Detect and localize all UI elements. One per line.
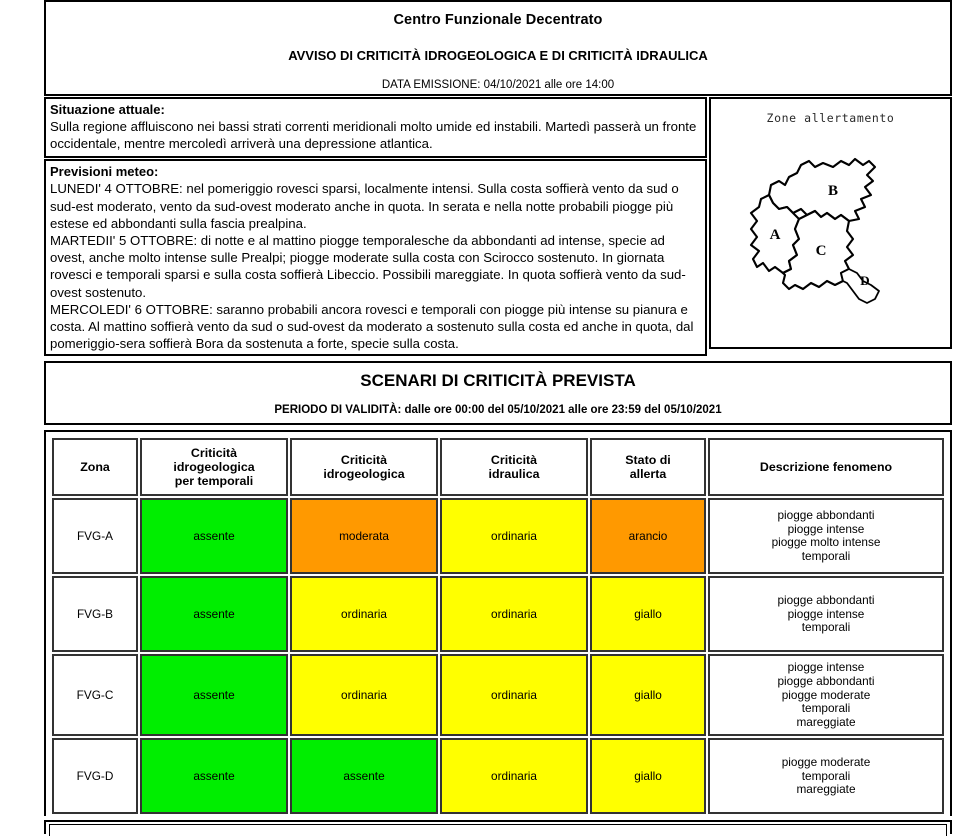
- descrizione-line: mareggiate: [712, 716, 940, 730]
- header-criticita-temporali: Criticità idrogeologica per temporali: [140, 438, 288, 496]
- header-line: Criticità: [491, 453, 537, 467]
- previsioni-label: Previsioni meteo:: [50, 164, 701, 180]
- descrizione-line: piogge intense: [712, 608, 940, 622]
- header-line: idrogeologica: [173, 460, 254, 474]
- zone-label-a: A: [770, 227, 781, 243]
- table-row: FVG-A assente moderata ordinaria arancio…: [52, 498, 944, 574]
- next-section-partial: [44, 820, 952, 834]
- next-section-inner: [49, 824, 947, 836]
- previsioni-lunedi: LUNEDI' 4 OTTOBRE: nel pomeriggio rovesc…: [50, 180, 701, 232]
- cell-stato-allerta: giallo: [590, 576, 706, 652]
- cell-criticita-idrogeologica: moderata: [290, 498, 438, 574]
- cell-criticita-idrogeologica: ordinaria: [290, 654, 438, 736]
- cell-descrizione: piogge intense piogge abbondanti piogge …: [708, 654, 944, 736]
- header-line: Criticità: [191, 446, 237, 460]
- previsioni-martedi: MARTEDII' 5 OTTOBRE: di notte e al matti…: [50, 232, 701, 301]
- cell-zona: FVG-A: [52, 498, 138, 574]
- cell-criticita-idrogeologica: assente: [290, 738, 438, 814]
- table-row: FVG-C assente ordinaria ordinaria giallo…: [52, 654, 944, 736]
- header-line: Stato di: [625, 453, 670, 467]
- header-line: allerta: [630, 467, 667, 481]
- map-caption: Zone allertamento: [711, 111, 950, 125]
- descrizione-line: temporali: [712, 770, 940, 784]
- header-line: per temporali: [175, 474, 254, 488]
- criticality-table-block: Zona Criticità idrogeologica per tempora…: [44, 430, 952, 816]
- cell-criticita-temporali: assente: [140, 738, 288, 814]
- descrizione-line: piogge molto intense: [712, 536, 940, 550]
- zone-label-c: C: [816, 243, 827, 259]
- header-descrizione-fenomeno: Descrizione fenomeno: [708, 438, 944, 496]
- zone-label-b: B: [828, 183, 838, 199]
- header-stato-allerta: Stato di allerta: [590, 438, 706, 496]
- cell-criticita-temporali: assente: [140, 498, 288, 574]
- cell-criticita-temporali: assente: [140, 654, 288, 736]
- map-block: Zone allertamento B A C D: [709, 97, 952, 349]
- descrizione-line: mareggiate: [712, 783, 940, 797]
- header-line: idrogeologica: [323, 467, 404, 481]
- scenari-title: SCENARI DI CRITICITÀ PREVISTA: [46, 371, 950, 391]
- descrizione-line: piogge abbondanti: [712, 509, 940, 523]
- cell-criticita-idraulica: ordinaria: [440, 576, 588, 652]
- header-criticita-idraulica: Criticità idraulica: [440, 438, 588, 496]
- header-line: Criticità: [341, 453, 387, 467]
- middle-section: Situazione attuale: Sulla regione afflui…: [44, 97, 952, 356]
- criticality-table: Zona Criticità idrogeologica per tempora…: [50, 436, 946, 816]
- cell-zona: FVG-B: [52, 576, 138, 652]
- situazione-attuale-block: Situazione attuale: Sulla regione afflui…: [44, 97, 707, 158]
- descrizione-line: piogge moderate: [712, 689, 940, 703]
- header-zona: Zona: [52, 438, 138, 496]
- descrizione-line: piogge moderate: [712, 756, 940, 770]
- descrizione-line: temporali: [712, 550, 940, 564]
- cell-zona: FVG-C: [52, 654, 138, 736]
- table-row: FVG-B assente ordinaria ordinaria giallo…: [52, 576, 944, 652]
- situazione-text: Sulla regione affluiscono nei bassi stra…: [50, 118, 701, 152]
- descrizione-line: temporali: [712, 702, 940, 716]
- page-title: Centro Funzionale Decentrato: [46, 12, 950, 28]
- cell-descrizione: piogge moderate temporali mareggiate: [708, 738, 944, 814]
- descrizione-line: piogge intense: [712, 523, 940, 537]
- cell-stato-allerta: giallo: [590, 738, 706, 814]
- zone-allertamento-map: B A C D: [729, 133, 934, 333]
- emission-date: DATA EMISSIONE: 04/10/2021 alle ore 14:0…: [46, 79, 950, 91]
- cell-descrizione: piogge abbondanti piogge intense tempora…: [708, 576, 944, 652]
- scenari-period: PERIODO DI VALIDITÀ: dalle ore 00:00 del…: [46, 404, 950, 416]
- header-criticita-idrogeologica: Criticità idrogeologica: [290, 438, 438, 496]
- situazione-label: Situazione attuale:: [50, 102, 701, 118]
- zone-label-d: D: [860, 273, 869, 288]
- cell-zona: FVG-D: [52, 738, 138, 814]
- text-column: Situazione attuale: Sulla regione afflui…: [44, 97, 707, 356]
- descrizione-line: piogge intense: [712, 661, 940, 675]
- header-block: Centro Funzionale Decentrato AVVISO DI C…: [44, 0, 952, 96]
- bulletin-page: Centro Funzionale Decentrato AVVISO DI C…: [44, 0, 952, 834]
- cell-stato-allerta: giallo: [590, 654, 706, 736]
- cell-criticita-idraulica: ordinaria: [440, 498, 588, 574]
- previsioni-mercoledi: MERCOLEDI' 6 OTTOBRE: saranno probabili …: [50, 301, 701, 353]
- table-row: FVG-D assente assente ordinaria giallo p…: [52, 738, 944, 814]
- page-subtitle: AVVISO DI CRITICITÀ IDROGEOLOGICA E DI C…: [46, 48, 950, 63]
- cell-criticita-idraulica: ordinaria: [440, 654, 588, 736]
- cell-descrizione: piogge abbondanti piogge intense piogge …: [708, 498, 944, 574]
- descrizione-line: piogge abbondanti: [712, 675, 940, 689]
- previsioni-meteo-block: Previsioni meteo: LUNEDI' 4 OTTOBRE: nel…: [44, 159, 707, 356]
- table-header-row: Zona Criticità idrogeologica per tempora…: [52, 438, 944, 496]
- descrizione-line: temporali: [712, 621, 940, 635]
- cell-criticita-idraulica: ordinaria: [440, 738, 588, 814]
- cell-stato-allerta: arancio: [590, 498, 706, 574]
- descrizione-line: piogge abbondanti: [712, 594, 940, 608]
- scenari-banner: SCENARI DI CRITICITÀ PREVISTA PERIODO DI…: [44, 361, 952, 425]
- cell-criticita-temporali: assente: [140, 576, 288, 652]
- cell-criticita-idrogeologica: ordinaria: [290, 576, 438, 652]
- header-line: idraulica: [489, 467, 540, 481]
